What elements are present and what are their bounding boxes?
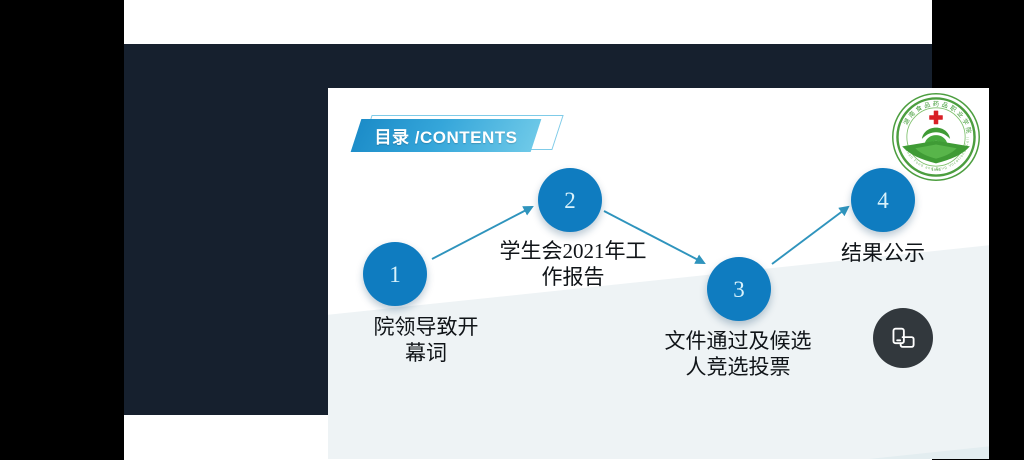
step-number-2: 2 bbox=[564, 189, 576, 212]
presentation-slide[interactable]: 目录 /CONTENTS 湖南食品药品职业学院 Hunan bbox=[328, 88, 989, 459]
step-number-3: 3 bbox=[733, 278, 745, 301]
step-circle-2[interactable]: 2 bbox=[538, 168, 602, 232]
step-circle-4[interactable]: 4 bbox=[851, 168, 915, 232]
step-number-4: 4 bbox=[877, 189, 889, 212]
player-surface[interactable]: 目录 /CONTENTS 湖南食品药品职业学院 Hunan bbox=[124, 44, 932, 415]
step-caption-4: 结果公示 bbox=[803, 240, 963, 266]
cast-to-device-icon bbox=[890, 325, 916, 351]
step-caption-3: 文件通过及候选 人竞选投票 bbox=[618, 328, 858, 381]
step-caption-2: 学生会2021年工 作报告 bbox=[468, 238, 678, 291]
cast-to-device-button[interactable] bbox=[873, 308, 933, 368]
step-caption-1: 院领导致开 幕词 bbox=[328, 314, 536, 367]
video-player-viewport: 目录 /CONTENTS 湖南食品药品职业学院 Hunan bbox=[0, 0, 1024, 460]
step-circle-1[interactable]: 1 bbox=[363, 242, 427, 306]
step-number-1: 1 bbox=[389, 263, 401, 286]
step-circle-3[interactable]: 3 bbox=[707, 257, 771, 321]
